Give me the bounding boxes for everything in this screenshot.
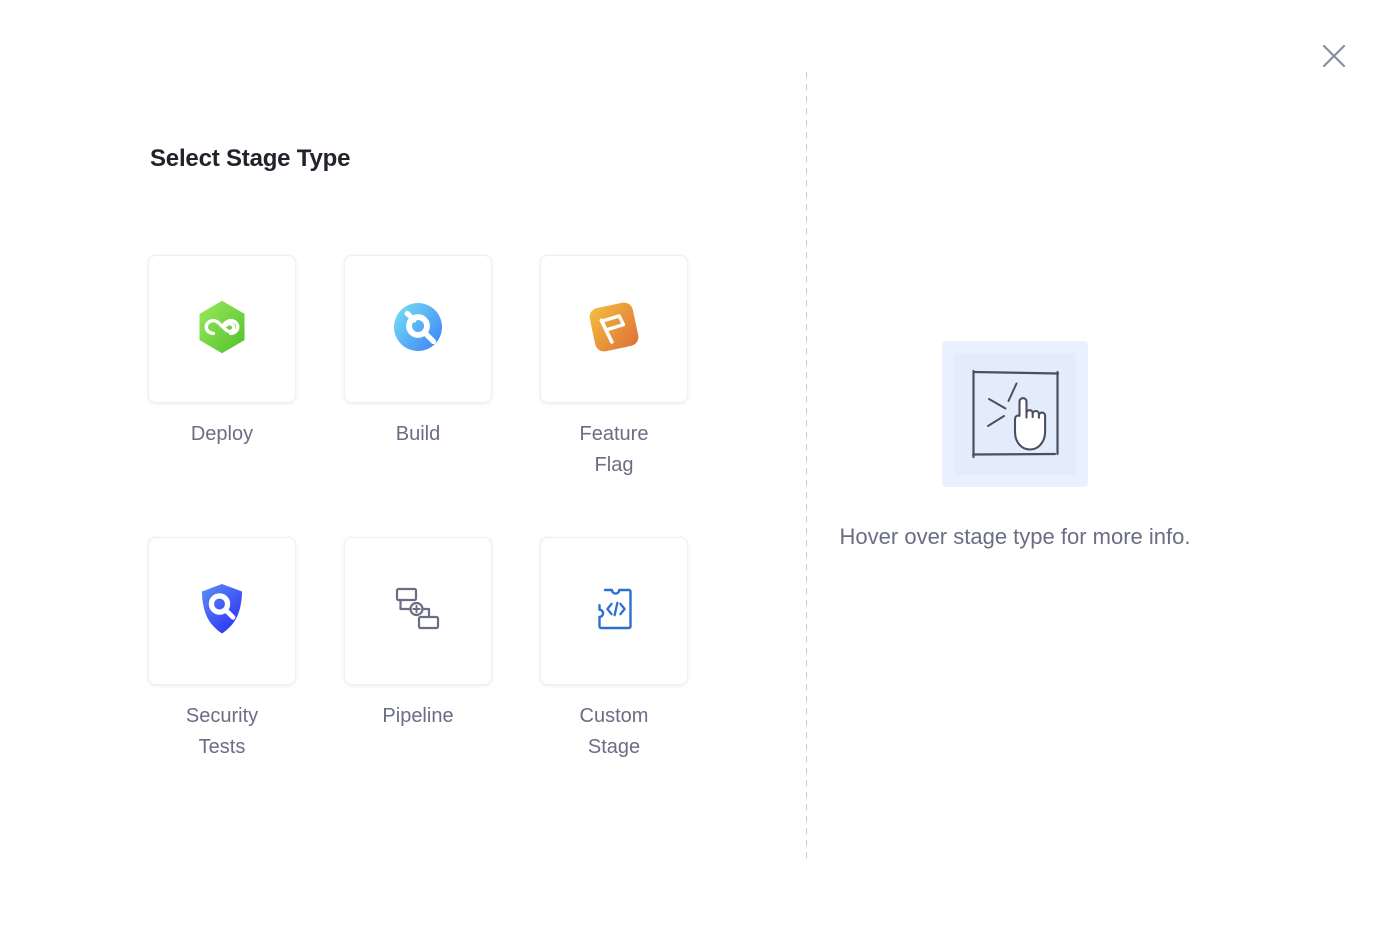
- stage-label-feature-flag: Feature Flag: [559, 419, 669, 481]
- deploy-hexagon-infinity-icon: [196, 299, 248, 360]
- feature-flag-icon: [587, 300, 641, 359]
- stage-card-security-tests[interactable]: [148, 537, 296, 685]
- stage-option-build[interactable]: Build: [344, 255, 492, 481]
- stage-option-security-tests[interactable]: Security Tests: [148, 537, 296, 763]
- stage-label-custom-stage: Custom Stage: [559, 701, 669, 763]
- stage-type-grid: Deploy: [148, 255, 688, 763]
- stage-card-pipeline[interactable]: [344, 537, 492, 685]
- stage-label-security-tests: Security Tests: [167, 701, 277, 763]
- stage-card-custom-stage[interactable]: [540, 537, 688, 685]
- select-stage-type-modal: Select Stage Type: [0, 0, 1382, 950]
- pipeline-nodes-plus-icon: [395, 587, 441, 636]
- security-shield-magnifier-icon: [199, 582, 245, 641]
- stage-option-custom-stage[interactable]: Custom Stage: [540, 537, 688, 763]
- hover-hint-text: Hover over stage type for more info.: [837, 518, 1193, 555]
- custom-stage-puzzle-code-icon: [592, 588, 636, 635]
- click-hand-pointer-illustration: [942, 341, 1088, 487]
- stage-option-feature-flag[interactable]: Feature Flag: [540, 255, 688, 481]
- page-title: Select Stage Type: [150, 145, 350, 173]
- stage-label-pipeline: Pipeline: [363, 701, 473, 732]
- stage-card-deploy[interactable]: [148, 255, 296, 403]
- stage-type-chooser-panel: Select Stage Type: [0, 0, 806, 950]
- stage-details-panel: Hover over stage type for more info.: [807, 0, 1382, 950]
- stage-option-deploy[interactable]: Deploy: [148, 255, 296, 481]
- stage-card-feature-flag[interactable]: [540, 255, 688, 403]
- stage-label-build: Build: [363, 419, 473, 450]
- build-circle-magnifier-icon: [392, 301, 444, 358]
- stage-label-deploy: Deploy: [167, 419, 277, 450]
- stage-card-build[interactable]: [344, 255, 492, 403]
- stage-option-pipeline[interactable]: Pipeline: [344, 537, 492, 763]
